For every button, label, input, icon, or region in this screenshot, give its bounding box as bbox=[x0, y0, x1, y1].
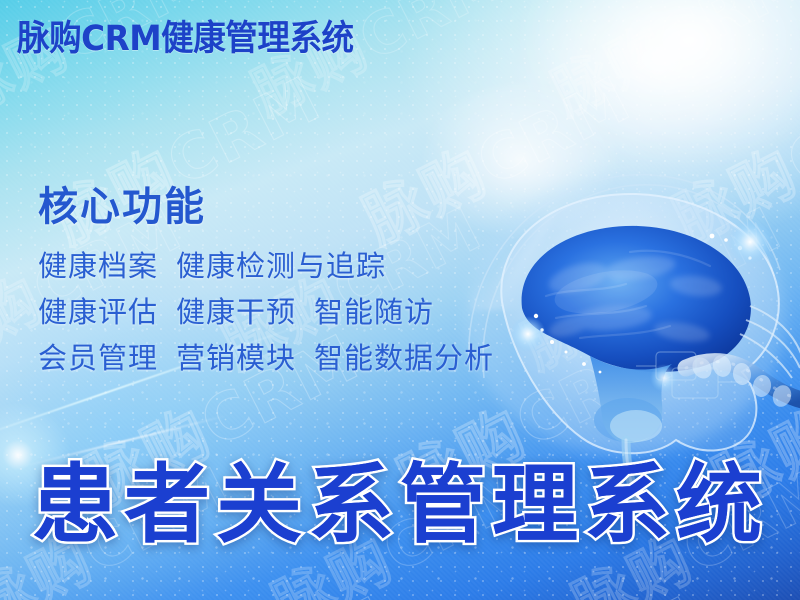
header-title: 脉购CRM健康管理系统 bbox=[17, 22, 354, 57]
watermark-text: 脉购CRM bbox=[506, 181, 795, 386]
watermark-text: 脉购CRM bbox=[655, 49, 800, 260]
feature-item: 会员管理 bbox=[38, 341, 158, 375]
feature-line: 会员管理营销模块智能数据分析 bbox=[38, 336, 518, 382]
features-heading: 核心功能 bbox=[38, 186, 518, 228]
feature-line: 健康档案健康检测与追踪 bbox=[38, 244, 518, 290]
feature-item: 营销模块 bbox=[176, 341, 296, 375]
feature-item: 智能随访 bbox=[314, 295, 434, 329]
watermark-text: 脉购CRM bbox=[415, 569, 713, 600]
watermark-text: 脉购CRM bbox=[725, 569, 800, 600]
promo-poster: 脉购CRM脉购CRM脉购CRM脉购CRM脉购CRM脉购CRM脉购CRM脉购CRM… bbox=[0, 0, 800, 600]
feature-line: 健康评估健康干预智能随访 bbox=[38, 290, 518, 336]
feature-item: 健康检测与追踪 bbox=[176, 249, 386, 283]
watermark-text: 脉购CRM bbox=[536, 0, 800, 131]
core-features-block: 核心功能 健康档案健康检测与追踪 健康评估健康干预智能随访 会员管理营销模块智能… bbox=[38, 186, 518, 381]
feature-item: 健康评估 bbox=[38, 295, 158, 329]
feature-item: 健康档案 bbox=[38, 249, 158, 283]
watermark-text: 脉购CRM bbox=[105, 569, 403, 600]
top-right-glow bbox=[520, 0, 800, 165]
hero-title-stroke: 患者关系管理系统 bbox=[0, 462, 800, 548]
feature-item: 智能数据分析 bbox=[314, 341, 494, 375]
feature-item: 健康干预 bbox=[176, 295, 296, 329]
